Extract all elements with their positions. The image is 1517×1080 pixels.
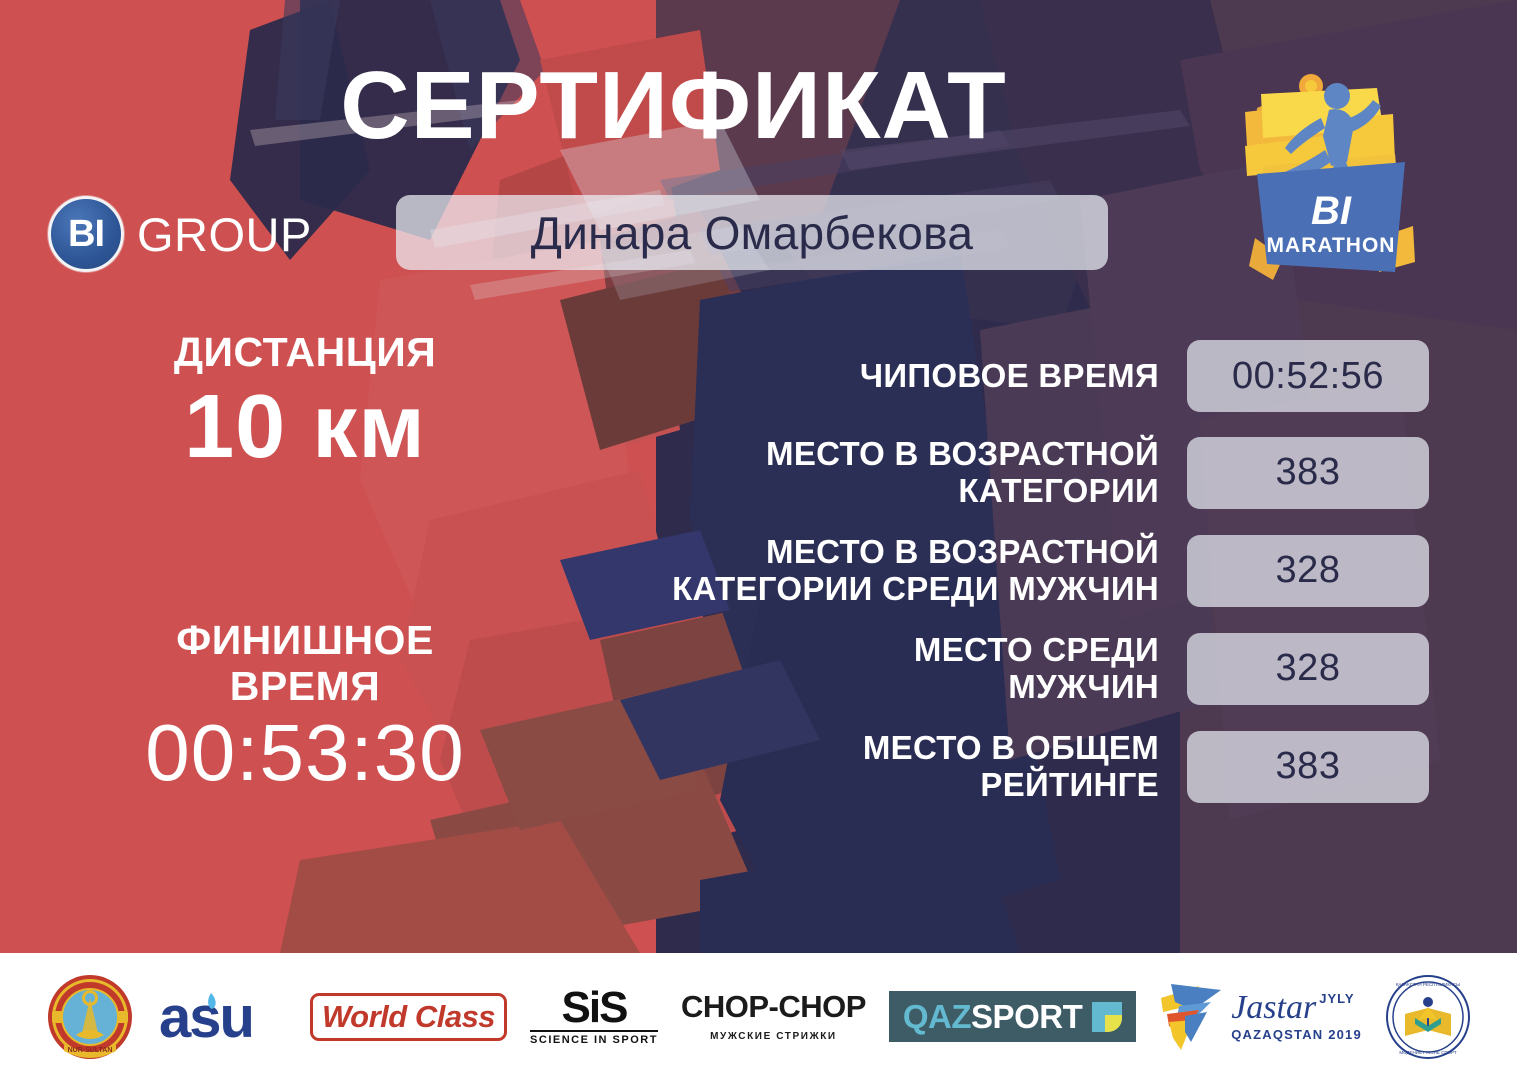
marathon-word-text: MARATHON: [1267, 234, 1396, 257]
participant-name: Динара Омарбекова: [531, 206, 974, 260]
bi-badge-text: BI: [68, 215, 104, 253]
finish-time-value: 00:53:30: [0, 712, 610, 794]
sponsor-jastar-jyly: Jastar JYLY QAZAQSTAN 2019: [1159, 971, 1362, 1063]
stat-label-line2: МУЖЧИН: [644, 669, 1159, 706]
bi-group-word: GROUP: [137, 207, 312, 262]
sponsor-asu: asu: [157, 971, 287, 1063]
sponsor-ministry: ҚАЗАҚСТАН РЕСПУБЛИКАСЫ МӘДЕНИЕТ ЖӘНЕ СПО…: [1385, 971, 1471, 1063]
left-stats-column: ДИСТАНЦИЯ 10 км ФИНИШНОЕ ВРЕМЯ 00:53:30: [0, 330, 610, 793]
nur-sultan-emblem-icon: NUR-SULTAN: [46, 973, 134, 1061]
stat-label-line1: МЕСТО В ВОЗРАСТНОЙ: [644, 436, 1159, 473]
jastar-logo: Jastar JYLY QAZAQSTAN 2019: [1159, 980, 1362, 1054]
stat-row: МЕСТО В ВОЗРАСТНОЙ КАТЕГОРИИ СРЕДИ МУЖЧИ…: [644, 534, 1429, 608]
jastar-subtitle: QAZAQSTAN 2019: [1231, 1027, 1362, 1042]
nur-sultan-ribbon-text: NUR-SULTAN: [68, 1047, 113, 1054]
bi-marathon-logo: BI MARATHON: [1227, 66, 1442, 296]
chop-chop-tagline: МУЖСКИЕ СТРИЖКИ: [681, 1031, 866, 1042]
qazsport-sport: SPORT: [971, 998, 1082, 1035]
stat-label: МЕСТО В ОБЩЕМ РЕЙТИНГЕ: [644, 730, 1159, 804]
stat-row: МЕСТО В ВОЗРАСТНОЙ КАТЕГОРИИ 383: [644, 436, 1429, 510]
stat-value: 328: [1187, 633, 1429, 705]
world-class-badge: World Class: [310, 993, 507, 1041]
sis-logo: SiS SCIENCE IN SPORT: [530, 987, 658, 1046]
sis-wordmark: SiS: [530, 987, 658, 1029]
qazsport-mark-icon: [1092, 1002, 1122, 1032]
jastar-text-block: Jastar JYLY QAZAQSTAN 2019: [1231, 991, 1362, 1042]
stat-label: МЕСТО В ВОЗРАСТНОЙ КАТЕГОРИИ СРЕДИ МУЖЧИ…: [644, 534, 1159, 608]
sponsor-footer: NUR-SULTAN asu World Class SiS SCIENCE I…: [0, 953, 1517, 1080]
stat-label: МЕСТО СРЕДИ МУЖЧИН: [644, 632, 1159, 706]
ministry-seal-icon: ҚАЗАҚСТАН РЕСПУБЛИКАСЫ МӘДЕНИЕТ ЖӘНЕ СПО…: [1385, 974, 1471, 1060]
stat-label-line2: КАТЕГОРИИ СРЕДИ МУЖЧИН: [644, 571, 1159, 608]
sponsor-sis: SiS SCIENCE IN SPORT: [530, 971, 658, 1063]
stat-label-line1: МЕСТО СРЕДИ: [644, 632, 1159, 669]
chop-chop-logo: CHOP-CHOP МУЖСКИЕ СТРИЖКИ: [681, 991, 866, 1042]
sponsor-qazsport: QAZSPORT: [889, 971, 1136, 1063]
qazsport-wordmark: QAZSPORT: [903, 1000, 1082, 1033]
stat-label-line2: РЕЙТИНГЕ: [644, 767, 1159, 804]
jastar-arrow-icon: [1159, 980, 1223, 1054]
finish-time-label-line1: ФИНИШНОЕ: [0, 618, 610, 664]
finish-time-label-line2: ВРЕМЯ: [0, 664, 610, 710]
qazsport-logo: QAZSPORT: [889, 991, 1136, 1042]
bi-circle-icon: BI: [48, 196, 124, 272]
sponsor-world-class: World Class: [310, 971, 507, 1063]
right-stats-column: ЧИПОВОЕ ВРЕМЯ 00:52:56 МЕСТО В ВОЗРАСТНО…: [644, 340, 1429, 804]
stat-value: 00:52:56: [1187, 340, 1429, 412]
sponsor-nur-sultan: NUR-SULTAN: [46, 971, 134, 1063]
participant-name-field: Динара Омарбекова: [396, 195, 1108, 270]
marathon-bi-text: BI: [1311, 189, 1352, 233]
chop-chop-wordmark: CHOP-CHOP: [681, 991, 866, 1022]
stat-row: МЕСТО В ОБЩЕМ РЕЙТИНГЕ 383: [644, 730, 1429, 804]
stat-row: ЧИПОВОЕ ВРЕМЯ 00:52:56: [644, 340, 1429, 412]
stat-label: ЧИПОВОЕ ВРЕМЯ: [644, 358, 1159, 395]
marathon-emblem-icon: BI MARATHON: [1227, 66, 1442, 296]
distance-value: 10 км: [0, 382, 610, 474]
stat-value: 328: [1187, 535, 1429, 607]
asu-logo-icon: asu: [157, 987, 287, 1047]
jastar-wordmark: Jastar: [1231, 991, 1316, 1025]
distance-label: ДИСТАНЦИЯ: [0, 330, 610, 376]
world-class-wordmark: World Class: [322, 999, 495, 1035]
stat-label: МЕСТО В ВОЗРАСТНОЙ КАТЕГОРИИ: [644, 436, 1159, 510]
qazsport-qaz: QAZ: [903, 998, 971, 1035]
ministry-seal-text-bottom: МӘДЕНИЕТ ЖӘНЕ СПОРТ: [1399, 1050, 1456, 1055]
sis-tagline: SCIENCE IN SPORT: [530, 1030, 658, 1046]
stat-row: МЕСТО СРЕДИ МУЖЧИН 328: [644, 632, 1429, 706]
stat-label-line1: МЕСТО В ОБЩЕМ: [644, 730, 1159, 767]
ministry-seal-text: ҚАЗАҚСТАН РЕСПУБЛИКАСЫ: [1396, 982, 1460, 987]
certificate-root: СЕРТИФИКАТ BI GROUP Динара Омарбекова: [0, 0, 1517, 1080]
stat-value: 383: [1187, 731, 1429, 803]
stat-label-line2: КАТЕГОРИИ: [644, 473, 1159, 510]
asu-wordmark: asu: [159, 987, 253, 1047]
finish-time-block: ФИНИШНОЕ ВРЕМЯ 00:53:30: [0, 618, 610, 793]
stat-label-line1: МЕСТО В ВОЗРАСТНОЙ: [644, 534, 1159, 571]
stat-label-line1: ЧИПОВОЕ ВРЕМЯ: [644, 358, 1159, 395]
stat-value: 383: [1187, 437, 1429, 509]
sponsor-chop-chop: CHOP-CHOP МУЖСКИЕ СТРИЖКИ: [681, 971, 866, 1063]
jastar-jyly-text: JYLY: [1319, 991, 1354, 1006]
bi-group-logo: BI GROUP: [48, 196, 312, 272]
